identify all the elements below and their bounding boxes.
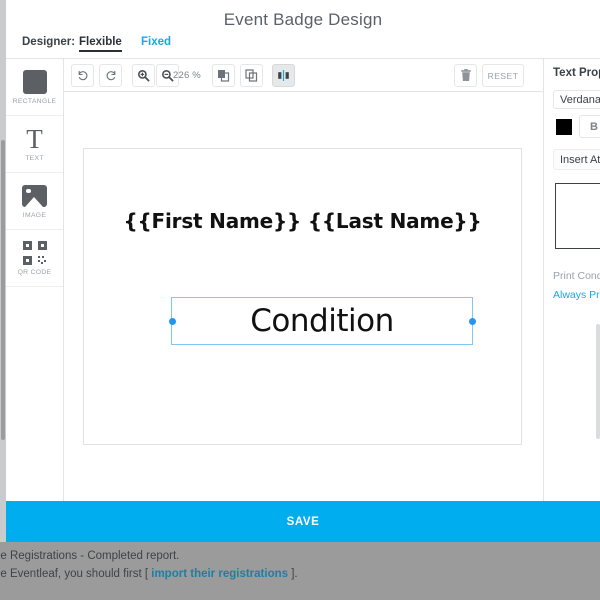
redo-icon bbox=[105, 70, 117, 82]
text-properties-panel: Text Prop Verdana B Insert At Print Cond… bbox=[543, 59, 600, 502]
resize-handle-left[interactable] bbox=[169, 318, 176, 325]
undo-icon bbox=[77, 70, 89, 82]
tool-qr-code[interactable]: QR CODE bbox=[6, 230, 63, 287]
redo-button[interactable] bbox=[99, 64, 122, 87]
import-registrations-link[interactable]: import their registrations bbox=[151, 568, 288, 580]
copy-icon bbox=[217, 69, 230, 82]
page-footer-text: ne Registrations - Completed report. de … bbox=[0, 542, 600, 600]
tool-qr-code-label: QR CODE bbox=[18, 269, 52, 276]
footer-line-2: de Eventleaf, you should first [ import … bbox=[0, 568, 298, 580]
image-icon bbox=[22, 183, 47, 209]
tool-text-label: TEXT bbox=[25, 155, 44, 162]
tab-flexible[interactable]: Flexible bbox=[79, 36, 122, 52]
text-content-textarea[interactable] bbox=[555, 183, 600, 249]
print-condition-value[interactable]: Always Pri bbox=[553, 289, 600, 301]
text-icon: T bbox=[26, 126, 43, 152]
badge-canvas[interactable]: {{First Name}} {{Last Name}} Condition bbox=[83, 148, 522, 445]
zoom-in-button[interactable] bbox=[132, 64, 155, 87]
tool-rail: RECTANGLE T TEXT IMAGE bbox=[6, 59, 64, 502]
tool-rectangle[interactable]: RECTANGLE bbox=[6, 59, 63, 116]
undo-button[interactable] bbox=[71, 64, 94, 87]
font-family-select[interactable]: Verdana bbox=[553, 90, 600, 109]
tool-text[interactable]: T TEXT bbox=[6, 116, 63, 173]
badge-condition-element[interactable]: Condition bbox=[171, 297, 473, 345]
align-center-button[interactable] bbox=[272, 64, 295, 87]
trash-icon bbox=[460, 69, 472, 82]
footer-line-1: ne Registrations - Completed report. bbox=[0, 550, 179, 562]
page-title: Event Badge Design bbox=[6, 10, 600, 30]
badge-condition-text: Condition bbox=[172, 298, 472, 344]
properties-panel-title: Text Prop bbox=[553, 67, 600, 79]
canvas-stage[interactable]: {{First Name}} {{Last Name}} Condition bbox=[64, 92, 543, 502]
footer-line-2-prefix: de Eventleaf, you should first [ bbox=[0, 568, 151, 580]
tab-fixed[interactable]: Fixed bbox=[141, 36, 171, 48]
paste-icon bbox=[245, 69, 258, 82]
footer-line-2-suffix: ]. bbox=[288, 568, 298, 580]
zoom-level-value[interactable]: 226 % bbox=[173, 64, 201, 87]
zoom-in-icon bbox=[137, 69, 150, 82]
resize-handle-right[interactable] bbox=[469, 318, 476, 325]
print-condition-label: Print Cond bbox=[553, 270, 600, 282]
paste-button[interactable] bbox=[240, 64, 263, 87]
canvas-toolbar: 226 % bbox=[64, 59, 543, 92]
save-button-label: SAVE bbox=[287, 516, 320, 528]
delete-button[interactable] bbox=[454, 64, 477, 87]
save-button[interactable]: SAVE bbox=[6, 501, 600, 542]
rectangle-icon bbox=[23, 69, 47, 95]
page-scrollbar-thumb[interactable] bbox=[1, 140, 5, 440]
panel-scrollbar-thumb[interactable] bbox=[596, 324, 600, 439]
tool-rectangle-label: RECTANGLE bbox=[13, 98, 57, 105]
page-scrollbar[interactable] bbox=[0, 0, 6, 542]
designer-label: Designer: bbox=[22, 36, 75, 48]
badge-design-modal: Event Badge Design Designer: Flexible Fi… bbox=[6, 0, 600, 542]
badge-name-text[interactable]: {{First Name}} {{Last Name}} bbox=[84, 209, 521, 233]
editor-region: RECTANGLE T TEXT IMAGE bbox=[6, 58, 600, 501]
align-center-icon bbox=[277, 69, 290, 82]
insert-attribute-button[interactable]: Insert At bbox=[553, 149, 600, 170]
copy-button[interactable] bbox=[212, 64, 235, 87]
text-color-swatch[interactable] bbox=[556, 119, 572, 135]
bold-button[interactable]: B bbox=[579, 115, 600, 138]
qr-code-icon bbox=[23, 240, 47, 266]
tool-image-label: IMAGE bbox=[23, 212, 46, 219]
tool-image[interactable]: IMAGE bbox=[6, 173, 63, 230]
designer-mode-row: Designer: Flexible Fixed bbox=[6, 34, 600, 58]
reset-button[interactable]: RESET bbox=[482, 64, 524, 87]
